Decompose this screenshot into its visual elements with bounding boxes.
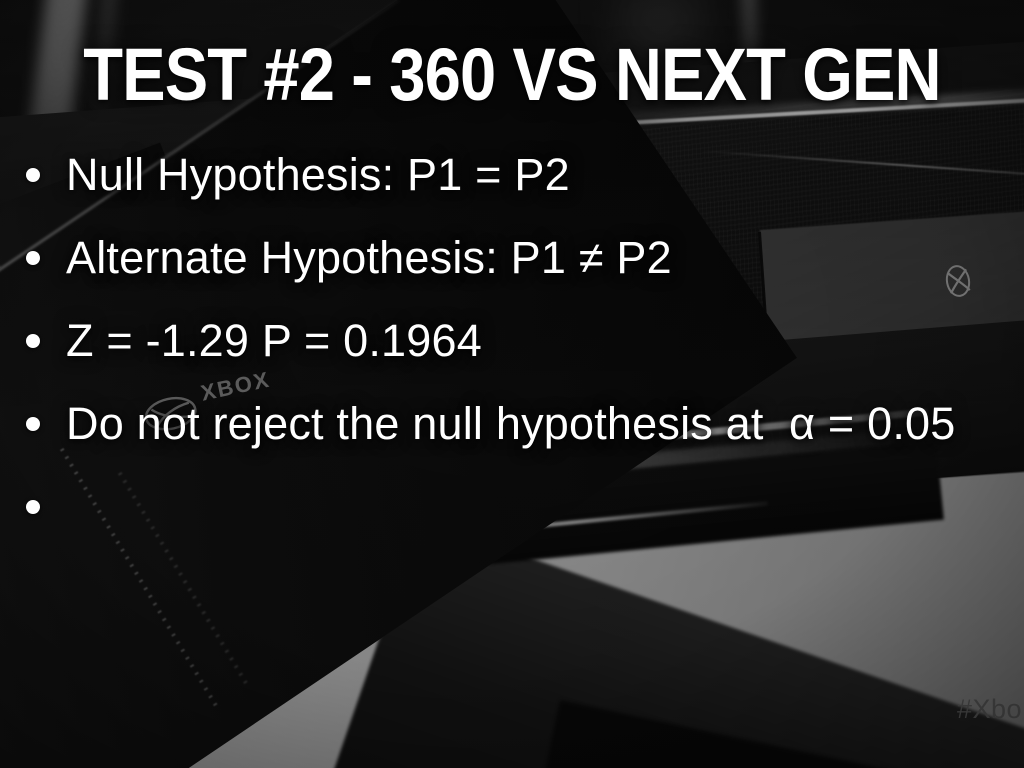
list-item: Alternate Hypothesis: P1 ≠ P2 — [18, 235, 1018, 318]
slide-title: TEST #2 - 360 VS NEXT GEN — [61, 38, 962, 112]
list-item — [18, 484, 1018, 554]
bullet-text: Alternate Hypothesis: P1 ≠ P2 — [66, 235, 1018, 280]
list-item: Z = -1.29 P = 0.1964 — [18, 318, 1018, 401]
presentation-slide: XBOX #Xbo TEST #2 - 360 VS NEXT GEN Null… — [0, 0, 1024, 768]
bullet-dot-icon — [26, 251, 40, 265]
bullet-text: Null Hypothesis: P1 = P2 — [66, 152, 1018, 197]
bullet-dot-icon — [26, 334, 40, 348]
bullet-dot-icon — [26, 500, 40, 514]
bullet-text: Do not reject the null hypothesis at α =… — [66, 401, 1018, 446]
bullet-text: Z = -1.29 P = 0.1964 — [66, 318, 1018, 363]
bullet-dot-icon — [26, 168, 40, 182]
bullet-dot-icon — [26, 417, 40, 431]
list-item: Null Hypothesis: P1 = P2 — [18, 152, 1018, 235]
bullet-list: Null Hypothesis: P1 = P2 Alternate Hypot… — [18, 152, 1018, 554]
list-item: Do not reject the null hypothesis at α =… — [18, 401, 1018, 484]
slide-content: TEST #2 - 360 VS NEXT GEN Null Hypothesi… — [0, 0, 1024, 768]
